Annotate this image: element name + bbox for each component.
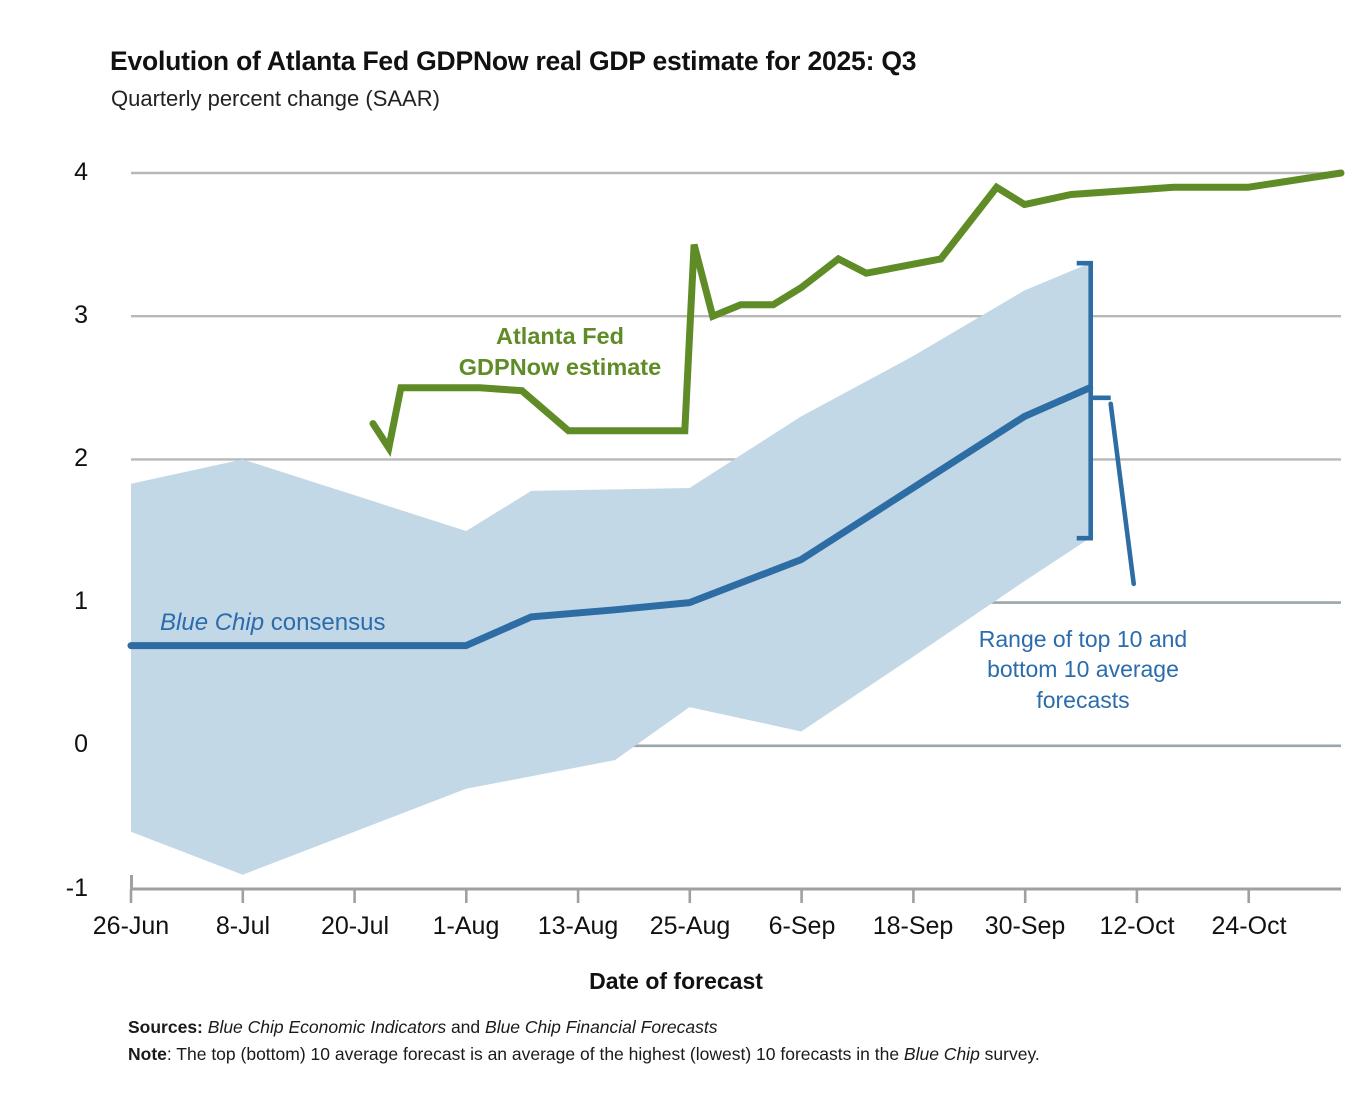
axes [131,875,1341,903]
range-annotation-line2: bottom 10 average [953,654,1213,684]
range-annotation-line1: Range of top 10 and [953,624,1213,654]
x-axis-ticks [131,889,1249,903]
y-tick-label-4: 4 [28,158,88,187]
footnotes: Sources: Blue Chip Economic Indicators a… [128,1014,1333,1069]
footnote-note-text-2: survey. [980,1044,1040,1064]
y-tick-label-3: 3 [28,301,88,330]
gdpnow-annotation: Atlanta Fed GDPNow estimate [420,321,700,383]
footnote-sources-and: and [446,1017,485,1037]
footnote-sources: Sources: Blue Chip Economic Indicators a… [128,1014,1333,1041]
chart-figure: Evolution of Atlanta Fed GDPNow real GDP… [0,0,1346,1098]
footnote-note: Note: The top (bottom) 10 average foreca… [128,1041,1333,1068]
y-tick-label-2: 2 [28,444,88,473]
range-annotation: Range of top 10 and bottom 10 average fo… [953,624,1213,715]
y-tick-label-1: 1 [28,587,88,616]
consensus-annotation-rest: consensus [264,609,385,636]
footnote-sources-italic-2: Blue Chip Financial Forecasts [485,1017,717,1037]
x-tick-label-10: 24-Oct [1179,912,1319,941]
footnote-note-italic: Blue Chip [904,1044,980,1064]
footnote-note-text-1: : The top (bottom) 10 average forecast i… [167,1044,904,1064]
y-tick-label-0: 0 [28,730,88,759]
footnote-sources-label: Sources: [128,1017,203,1037]
gdpnow-annotation-line2: GDPNow estimate [420,352,700,383]
gdpnow-annotation-line1: Atlanta Fed [420,321,700,352]
x-axis-label: Date of forecast [556,968,796,995]
y-tick-label-minus1: -1 [28,874,88,903]
consensus-annotation-italic: Blue Chip [160,609,264,636]
range-bracket-leader [1111,404,1134,584]
consensus-annotation: Blue Chip consensus [160,609,385,637]
footnote-sources-italic-1: Blue Chip Economic Indicators [208,1017,446,1037]
range-annotation-line3: forecasts [953,685,1213,715]
footnote-note-label: Note [128,1044,167,1064]
